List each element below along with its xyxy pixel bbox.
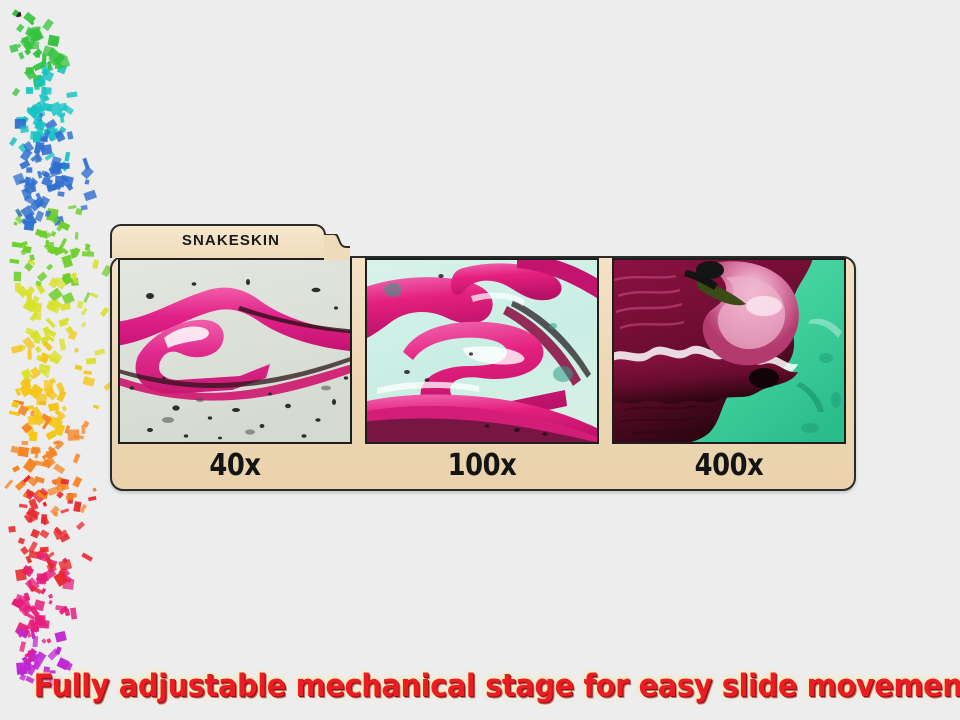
- slide-image-row: 40x: [118, 258, 848, 488]
- specimen-card: SNAKESKIN: [110, 224, 856, 491]
- slide-magnification-label: 40x: [134, 444, 335, 488]
- slide-image-100x[interactable]: [365, 258, 599, 444]
- product-feature-caption: Fully adjustable mechanical stage for ea…: [34, 668, 927, 704]
- slide-item: 40x: [118, 258, 352, 488]
- slide-magnification-label: 100x: [381, 444, 582, 488]
- specimen-tab-label: SNAKESKIN: [110, 224, 326, 258]
- slide-image-400x[interactable]: [612, 258, 846, 444]
- tab-corner-shape: [324, 234, 350, 260]
- slide-item: 400x: [612, 258, 846, 488]
- slide-item: 100x: [365, 258, 599, 488]
- product-image-stage: SNAKESKIN: [0, 0, 960, 720]
- slide-image-40x[interactable]: [118, 258, 352, 444]
- slide-magnification-label: 400x: [628, 444, 829, 488]
